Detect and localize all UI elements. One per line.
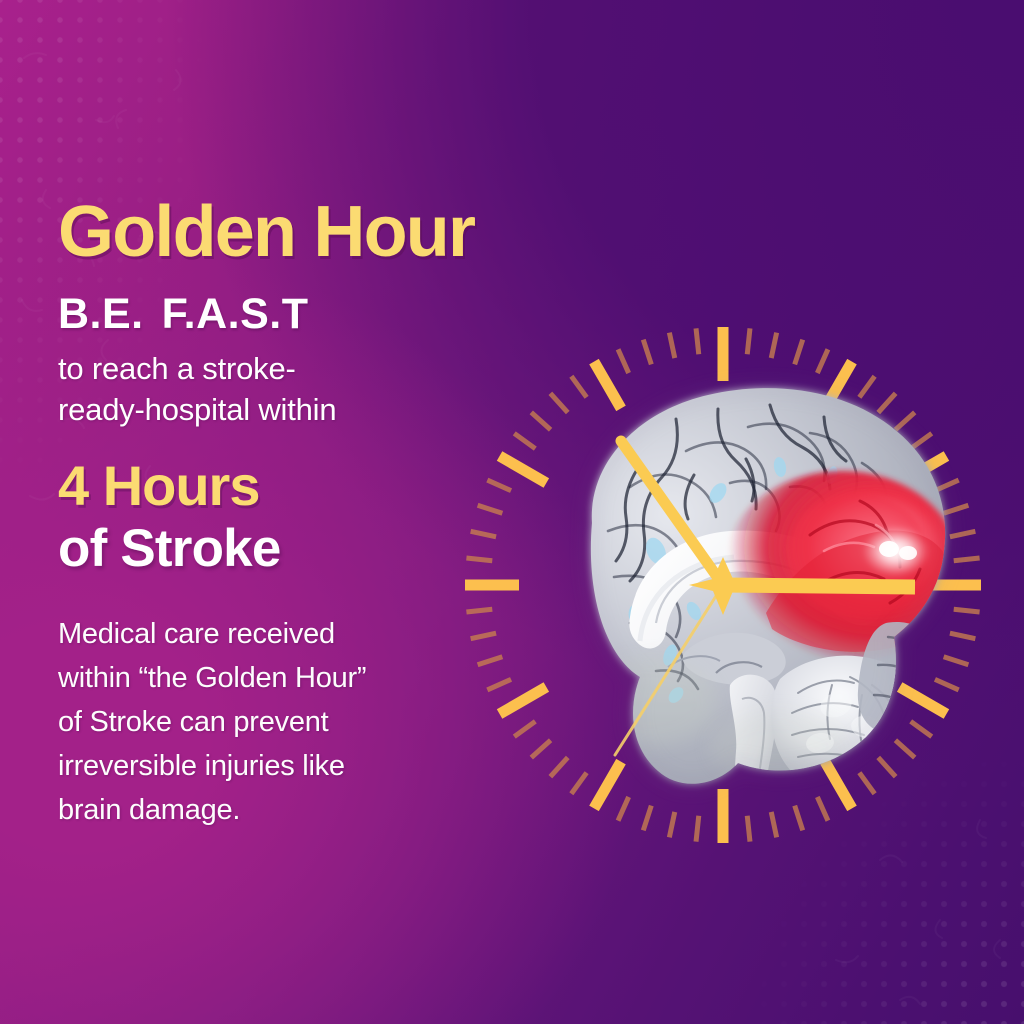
befast-be: B.E. — [58, 290, 144, 338]
befast-fast: F.A.S.T — [162, 290, 309, 338]
hours-highlight: 4 Hours — [58, 457, 478, 515]
paragraph-line-2: within “the Golden Hour” — [58, 656, 478, 700]
of-stroke-label: of Stroke — [58, 521, 478, 576]
paragraph-line-3: of Stroke can prevent — [58, 700, 478, 744]
clock-minute-tick — [747, 328, 750, 354]
paragraph-line-4: irreversible injuries like — [58, 744, 478, 788]
ischemic-stroke-region — [724, 471, 960, 663]
brain-svg — [480, 355, 980, 825]
subline-line-2: ready-hospital within — [58, 390, 478, 431]
paragraph-line-5: brain damage. — [58, 788, 478, 832]
paragraph-line-1: Medical care received — [58, 612, 478, 656]
description-paragraph: Medical care received within “the Golden… — [58, 612, 478, 832]
subline: to reach a stroke- ready-hospital within — [58, 349, 478, 431]
subline-line-1: to reach a stroke- — [58, 349, 478, 390]
brain-interior — [480, 355, 980, 825]
poster-canvas: Golden Hour B.E.F.A.S.T to reach a strok… — [0, 0, 1024, 1024]
text-column: Golden Hour B.E.F.A.S.T to reach a strok… — [58, 196, 478, 833]
sagittal-brain-illustration — [480, 355, 980, 825]
clock-minute-tick — [696, 328, 699, 354]
page-title: Golden Hour — [58, 196, 478, 268]
befast-acronym: B.E.F.A.S.T — [58, 290, 478, 339]
occipital-lobe — [858, 622, 946, 734]
